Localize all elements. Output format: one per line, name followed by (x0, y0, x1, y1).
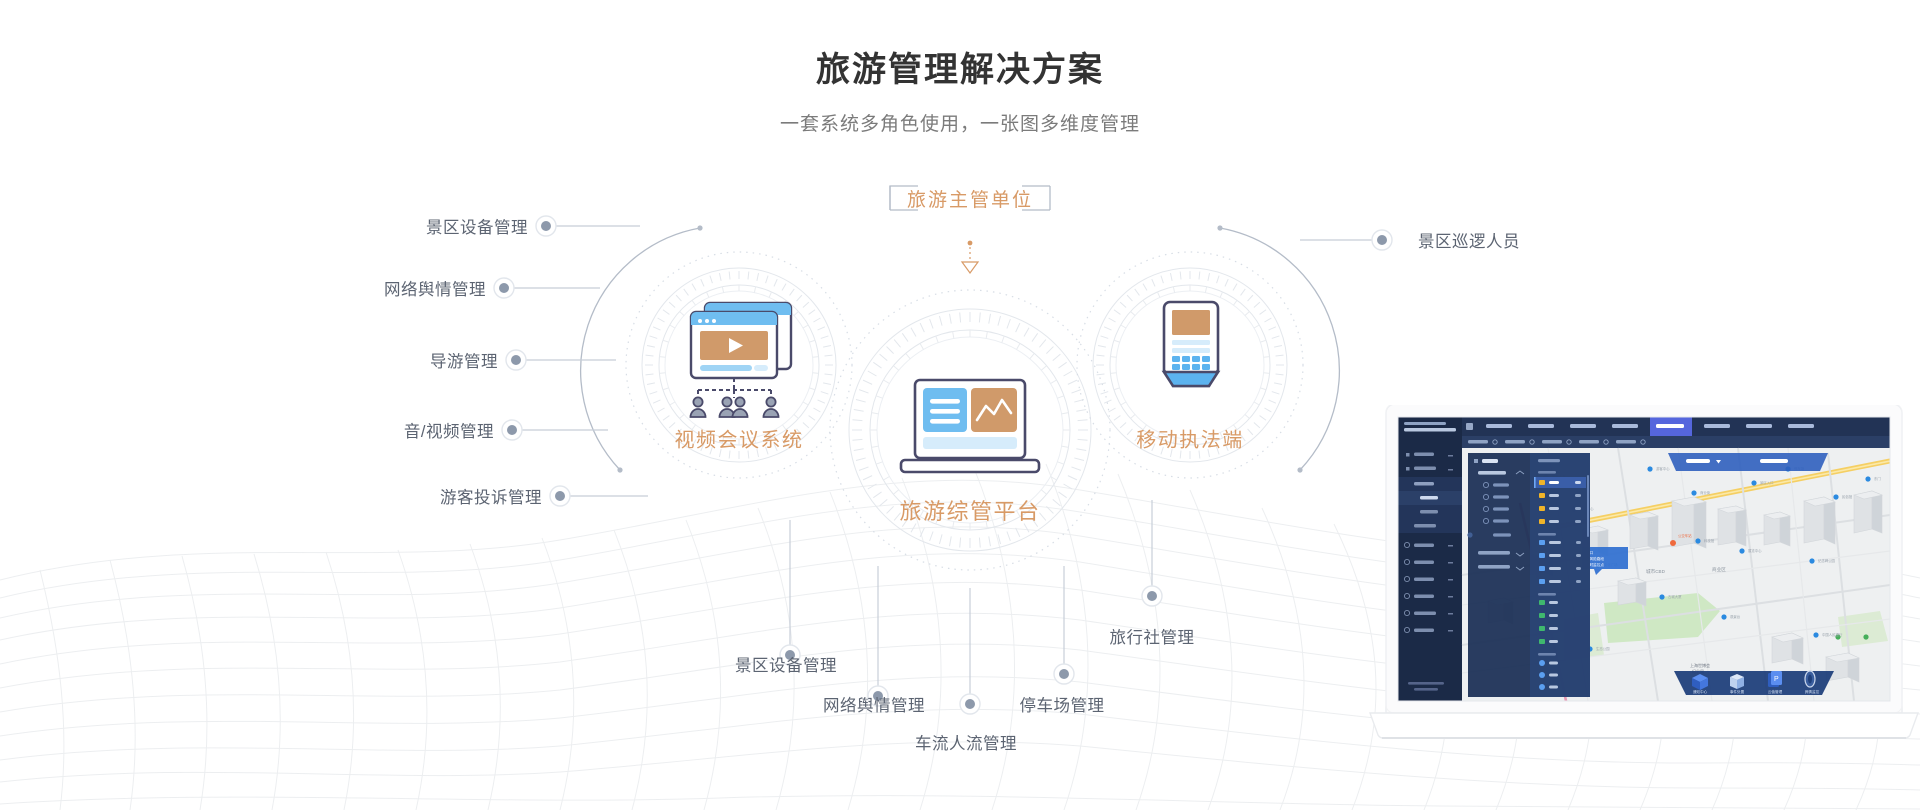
svg-text:科技馆: 科技馆 (1704, 538, 1715, 543)
svg-text:通知中心: 通知中心 (1693, 689, 1708, 694)
svg-text:中国人民银行: 中国人民银行 (1822, 632, 1843, 637)
svg-text:景区入口: 景区入口 (1760, 480, 1774, 485)
bottom-connectors (790, 500, 1152, 704)
right-label-0[interactable]: 景区巡逻人员 (1418, 228, 1520, 252)
gov-unit-box[interactable]: 旅游主管单位 (887, 176, 1053, 220)
gov-box-connector (962, 241, 978, 273)
dashboard-screen: 清风山庄文化中心 游客中心商业街 景区入口停车场 民俗馆东门 科技馆展览中心 文… (1398, 417, 1890, 701)
node-title-left[interactable]: 视频会议系统 (675, 424, 804, 453)
svg-text:东门: 东门 (1874, 476, 1881, 481)
svg-text:商业街: 商业街 (1700, 490, 1711, 495)
bottom-label-4[interactable]: 旅行社管理 (1110, 624, 1195, 648)
laptop-mockup: 清风山庄文化中心 游客中心商业街 景区入口停车场 民俗馆东门 科技馆展览中心 文… (1368, 405, 1920, 810)
svg-text:上海世博会: 上海世博会 (1690, 662, 1710, 668)
svg-text:生态公园: 生态公园 (1596, 646, 1610, 651)
node-title-center[interactable]: 旅游综管平台 (899, 494, 1040, 526)
gov-unit-label: 旅游主管单位 (907, 185, 1033, 212)
svg-text:纪念碑公园: 纪念碑公园 (1818, 558, 1836, 563)
svg-text:舆情监控: 舆情监控 (1805, 689, 1820, 694)
svg-text:商业区: 商业区 (1712, 566, 1726, 573)
handheld-terminal-icon (1164, 302, 1218, 386)
left-label-2[interactable]: 导游管理 (430, 348, 498, 372)
svg-text:观景台: 观景台 (1730, 614, 1741, 619)
laptop-dashboard-icon (901, 380, 1039, 472)
bottom-label-2[interactable]: 车流人流管理 (915, 730, 1017, 754)
left-label-1[interactable]: 网络舆情管理 (384, 276, 486, 300)
node-title-right[interactable]: 移动执法端 (1136, 424, 1244, 453)
left-label-3[interactable]: 音/视频管理 (404, 418, 494, 442)
svg-text:云值管理: 云值管理 (1768, 689, 1783, 694)
left-label-0[interactable]: 景区设备管理 (426, 214, 528, 238)
svg-text:事件处置: 事件处置 (1730, 689, 1745, 694)
video-conference-icon (691, 303, 792, 417)
bottom-label-0[interactable]: 景区设备管理 (735, 652, 837, 676)
svg-text:游客中心: 游客中心 (1656, 466, 1670, 471)
svg-text:展览中心: 展览中心 (1748, 548, 1762, 553)
svg-text:城市CBD: 城市CBD (1646, 568, 1666, 575)
bottom-label-3[interactable]: 停车场管理 (1020, 692, 1105, 716)
svg-text:古城大厦: 古城大厦 (1668, 594, 1682, 599)
page-subtitle: 一套系统多角色使用，一张图多维度管理 (0, 109, 1920, 136)
svg-text:公交车站: 公交车站 (1678, 533, 1692, 538)
page-header: 旅游管理解决方案 一套系统多角色使用，一张图多维度管理 (0, 0, 1920, 136)
left-label-4[interactable]: 游客投诉管理 (440, 484, 542, 508)
svg-text:民俗馆: 民俗馆 (1842, 494, 1853, 499)
bottom-label-1[interactable]: 网络舆情管理 (823, 692, 925, 716)
page-title: 旅游管理解决方案 (0, 42, 1920, 91)
svg-text:P: P (1774, 676, 1779, 683)
